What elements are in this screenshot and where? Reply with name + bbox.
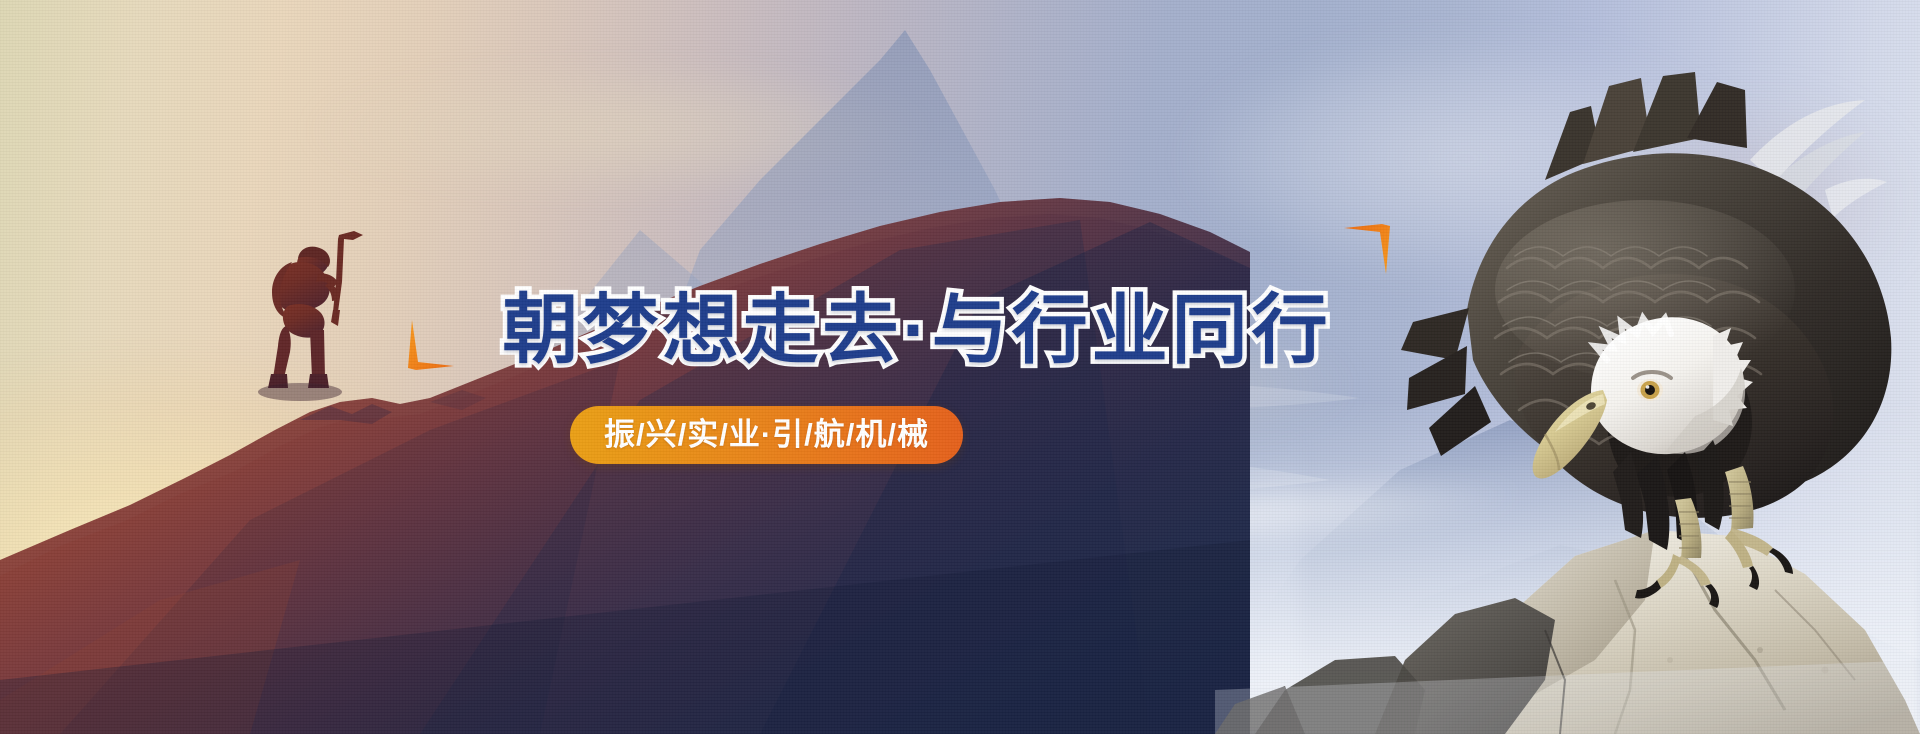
orange-accent-top-right-icon <box>1340 218 1402 280</box>
hero-tagline-badge: 振/兴/实/业·引/航/机/械 <box>570 406 963 464</box>
bald-eagle-illustration <box>1395 60 1920 620</box>
hero-tagline-text: 振/兴/实/业·引/航/机/械 <box>604 406 929 464</box>
hero-headline: 朝梦想走去·与行业同行 <box>422 279 1412 383</box>
climber-silhouette <box>232 222 382 412</box>
hero-text-block: 朝梦想走去·与行业同行 振/兴/实/业·引/航/机/械 <box>410 228 1420 478</box>
hero-banner: 朝梦想走去·与行业同行 振/兴/实/业·引/航/机/械 <box>0 0 1920 734</box>
